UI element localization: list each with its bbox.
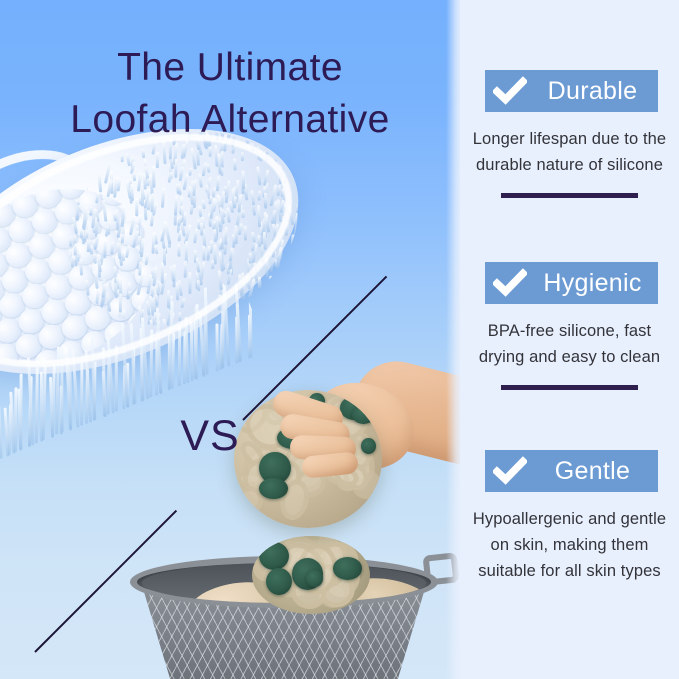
scrubber-comb-bristle xyxy=(115,346,118,412)
check-icon xyxy=(493,456,527,486)
scrubber-comb-bristle xyxy=(0,393,3,459)
scrubber-bristle xyxy=(302,218,305,226)
feature-divider xyxy=(501,385,638,390)
scrubber-comb-bristle xyxy=(13,387,17,453)
feature-durable: Durable Longer lifespan due to the durab… xyxy=(460,70,679,198)
feature-title: Hygienic xyxy=(531,262,658,304)
scrubber-bristle xyxy=(269,275,272,288)
scrubber-comb-bristle xyxy=(42,365,47,440)
check-icon xyxy=(493,76,527,106)
scrubber-bristle xyxy=(314,258,320,279)
mold-spot xyxy=(361,438,376,453)
scrubber-bristle xyxy=(309,255,314,271)
feature-hygienic: Hygienic BPA-free silicone, fast drying … xyxy=(460,262,679,390)
panel-divider xyxy=(446,0,462,679)
scrubber-comb-bristle xyxy=(35,367,39,443)
feature-banner: Durable xyxy=(485,70,658,112)
mold-spot xyxy=(333,557,362,579)
vs-label: VS xyxy=(168,410,252,462)
check-icon xyxy=(493,268,527,298)
scrubber-bristle xyxy=(288,258,293,269)
feature-title: Gentle xyxy=(531,450,658,492)
mold-spot xyxy=(259,478,288,499)
scrubber-comb-bristle xyxy=(249,301,253,358)
scrubber-bristle xyxy=(290,235,294,247)
feature-description: Longer lifespan due to the durable natur… xyxy=(472,126,667,178)
feature-title: Durable xyxy=(531,70,658,112)
mold-spot xyxy=(352,405,375,425)
comparison-panel: The Ultimate Loofah Alternative VS xyxy=(0,0,460,679)
feature-banner: Hygienic xyxy=(485,262,658,304)
scrubber-bristle xyxy=(258,276,262,287)
feature-description: BPA-free silicone, fast drying and easy … xyxy=(472,318,667,370)
feature-gentle: Gentle Hypoallergenic and gentle on skin… xyxy=(460,450,679,584)
loofahs-in-wastebasket-image xyxy=(116,548,460,679)
used-loofah-in-hand-image xyxy=(234,362,460,552)
mold-spot xyxy=(306,570,324,587)
feature-divider xyxy=(501,193,638,198)
feature-banner: Gentle xyxy=(485,450,658,492)
headline: The Ultimate Loofah Alternative xyxy=(0,42,460,146)
feature-description: Hypoallergenic and gentle on skin, makin… xyxy=(472,506,667,584)
features-panel: Durable Longer lifespan due to the durab… xyxy=(460,0,679,679)
scrubber-comb-bristle xyxy=(19,373,22,449)
mold-spot xyxy=(266,568,292,595)
product-infographic: The Ultimate Loofah Alternative VS xyxy=(0,0,679,679)
scrubber-comb-bristle xyxy=(178,325,181,386)
scrubber-comb-bristle xyxy=(80,363,83,426)
